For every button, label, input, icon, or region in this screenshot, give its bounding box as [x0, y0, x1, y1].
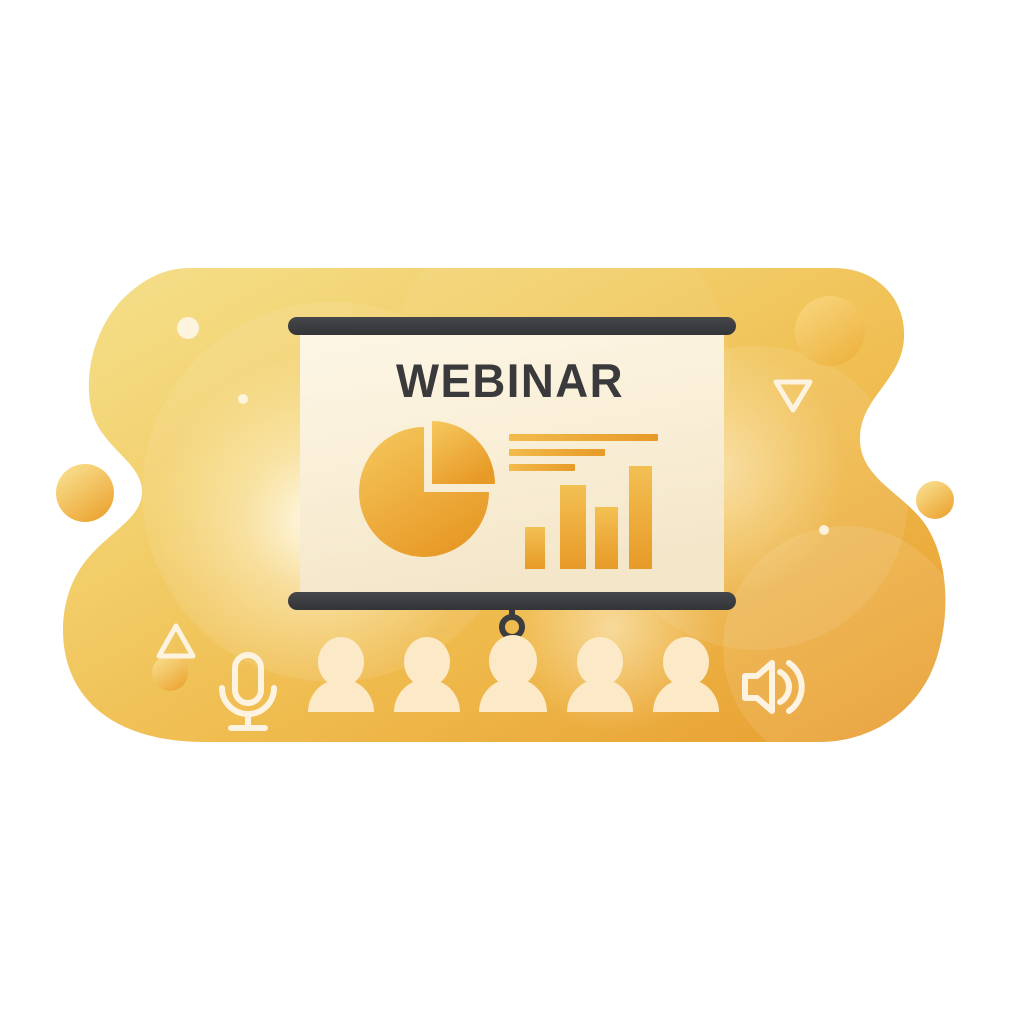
sphere-right-outer — [916, 481, 954, 519]
sphere-left-inner — [152, 655, 188, 691]
dot-white-right — [819, 525, 829, 535]
sphere-top-right — [795, 296, 865, 366]
dot-white-mid-left — [238, 394, 248, 404]
bar-2 — [560, 485, 586, 569]
rule-line-1 — [509, 434, 658, 441]
webinar-illustration-svg — [0, 0, 1024, 1024]
rule-line-2 — [509, 449, 605, 456]
dot-white-upper-left — [177, 317, 199, 339]
screen-top-bar — [288, 317, 736, 335]
sphere-left-outer — [56, 464, 114, 522]
bar-3 — [595, 507, 618, 569]
screen-title: WEBINAR — [306, 357, 713, 404]
rule-line-3 — [509, 464, 575, 471]
bar-1 — [525, 527, 545, 569]
bar-4 — [629, 466, 652, 569]
illustration-canvas: WEBINAR — [0, 0, 1024, 1024]
screen-bottom-bar — [288, 592, 736, 610]
